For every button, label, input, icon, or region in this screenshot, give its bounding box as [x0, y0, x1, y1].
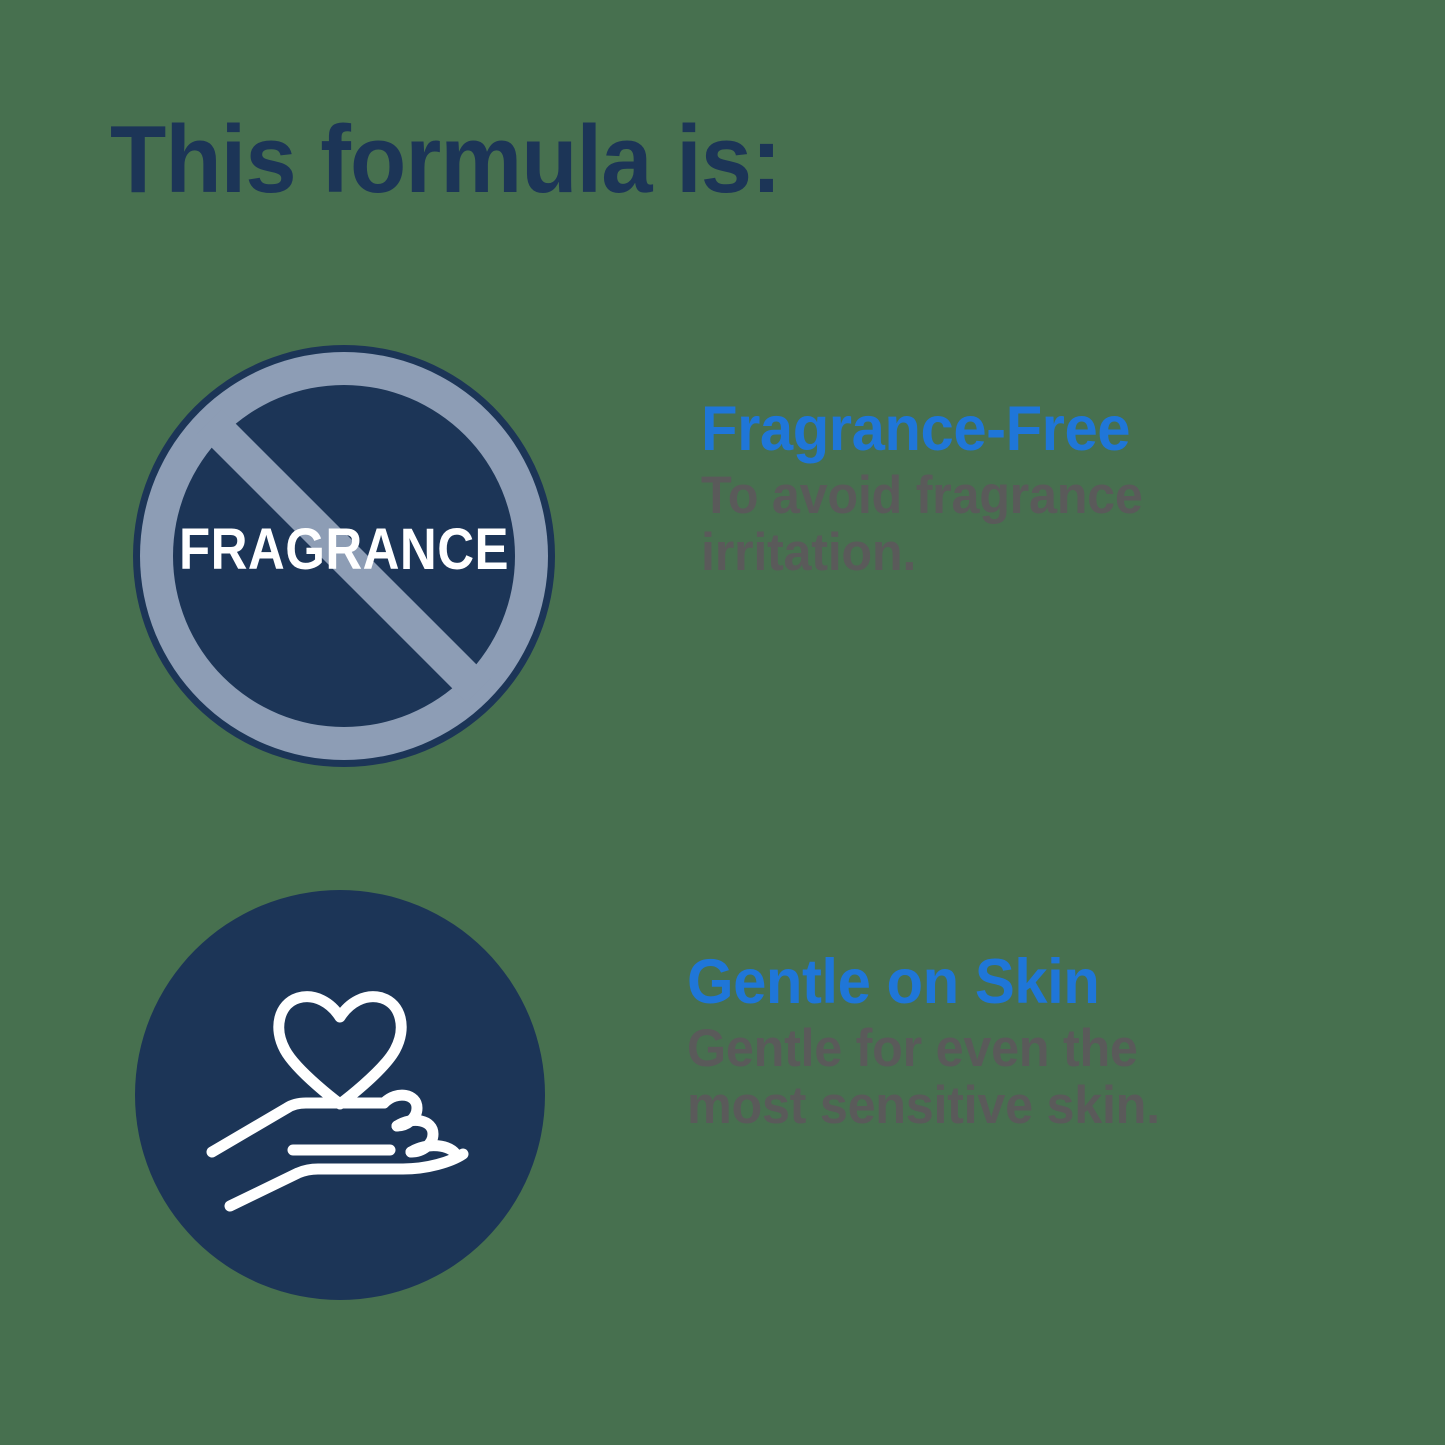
hand-holding-heart-glyph: [135, 890, 545, 1300]
feature-text-block: Fragrance-Free To avoid fragrance irrita…: [701, 397, 1301, 582]
hand-holding-heart-icon: [135, 890, 545, 1300]
no-fragrance-icon: FRAGRANCE: [133, 345, 555, 767]
no-fragrance-icon-label: FRAGRANCE: [158, 521, 529, 579]
feature-description: Gentle for even the most sensitive skin.: [687, 1020, 1257, 1134]
feature-text-block: Gentle on Skin Gentle for even the most …: [687, 950, 1287, 1135]
page-title: This formula is:: [110, 112, 781, 208]
feature-heading: Fragrance-Free: [701, 397, 1271, 461]
feature-heading: Gentle on Skin: [687, 950, 1257, 1014]
feature-description: To avoid fragrance irritation.: [701, 467, 1271, 581]
feature-item-fragrance-free: FRAGRANCE Fragrance-Free To avoid fragra…: [133, 345, 1301, 767]
infographic-canvas: This formula is: FRAGRANCE Fragrance-Fre…: [0, 0, 1445, 1445]
feature-item-gentle-on-skin: Gentle on Skin Gentle for even the most …: [135, 890, 1287, 1300]
